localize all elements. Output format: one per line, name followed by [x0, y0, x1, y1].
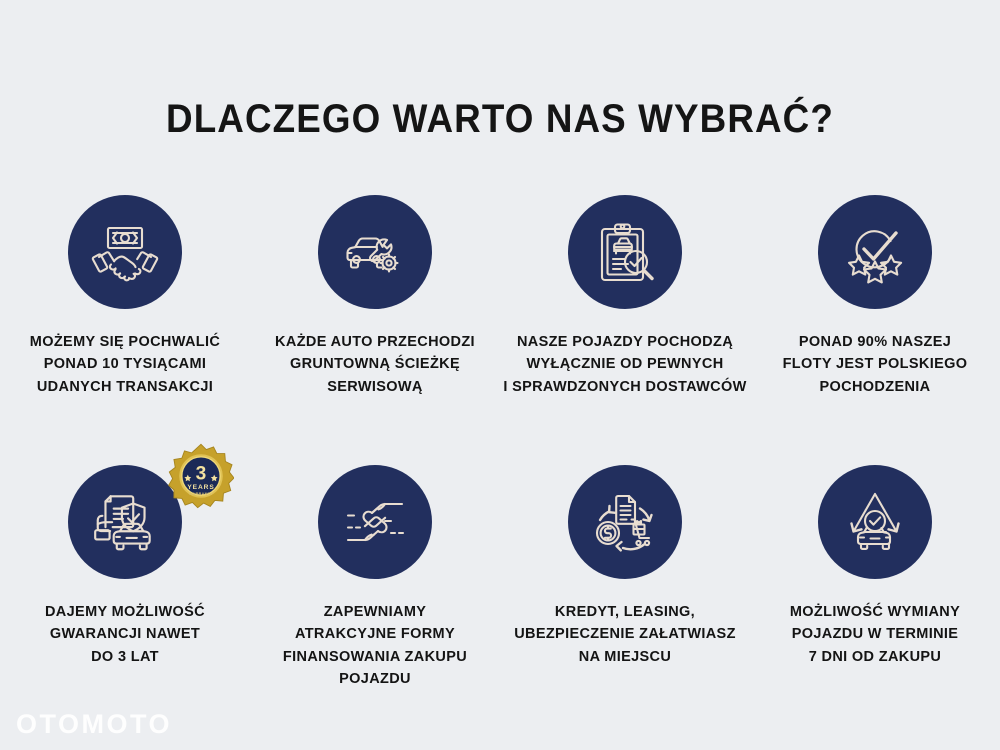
- feature-icon-wrap-8: [818, 465, 932, 579]
- caption-line: SERWISOWĄ: [252, 376, 498, 398]
- caption-line: NA MIEJSCU: [502, 646, 748, 668]
- caption-line: DO 3 LAT: [2, 646, 248, 668]
- feature-caption-5: DAJEMY MOŻLIWOŚĆ GWARANCJI NAWET DO 3 LA…: [2, 601, 248, 668]
- otomoto-watermark: OTOMOTO: [16, 709, 172, 740]
- feature-circle-1: [68, 195, 182, 309]
- feature-circle-7: [568, 465, 682, 579]
- caption-line: POCHODZENIA: [752, 376, 998, 398]
- feature-item-7: KREDYT, LEASING, UBEZPIECZENIE ZAŁATWIAS…: [500, 465, 750, 735]
- caption-line: MOŻEMY SIĘ POCHWALIĆ: [2, 331, 248, 353]
- feature-item-3: NASZE POJAZDY POCHODZĄ WYŁĄCZNIE OD PEWN…: [500, 195, 750, 465]
- caption-line: PONAD 90% NASZEJ: [752, 331, 998, 353]
- page-title: DLACZEGO WARTO NAS WYBRAĆ?: [40, 97, 960, 142]
- car-exchange-return-icon: [839, 486, 911, 558]
- feature-item-4: PONAD 90% NASZEJ FLOTY JEST POLSKIEGO PO…: [750, 195, 1000, 465]
- feature-icon-wrap-1: [68, 195, 182, 309]
- feature-icon-wrap-4: [818, 195, 932, 309]
- warranty-document-car-icon: [88, 485, 162, 559]
- feature-caption-7: KREDYT, LEASING, UBEZPIECZENIE ZAŁATWIAS…: [502, 601, 748, 668]
- caption-line: I SPRAWDZONYCH DOSTAWCÓW: [502, 376, 748, 398]
- hands-money-exchange-icon: [339, 486, 411, 558]
- three-years-warranty-seal-icon: 3 YEARS WARRANTY: [168, 443, 234, 509]
- feature-item-6: ZAPEWNIAMY ATRAKCYJNE FORMY FINANSOWANIA…: [250, 465, 500, 735]
- caption-line: FLOTY JEST POLSKIEGO: [752, 353, 998, 375]
- feature-caption-4: PONAD 90% NASZEJ FLOTY JEST POLSKIEGO PO…: [752, 331, 998, 398]
- seal-number: 3: [196, 463, 207, 484]
- caption-line: KREDYT, LEASING,: [502, 601, 748, 623]
- caption-line: PONAD 10 TYSIĄCAMI: [2, 353, 248, 375]
- infographic-page: DLACZEGO WARTO NAS WYBRAĆ?: [0, 0, 1000, 750]
- feature-caption-2: KAŻDE AUTO PRZECHODZI GRUNTOWNĄ ŚCIEŻKĘ …: [252, 331, 498, 398]
- caption-line: DAJEMY MOŻLIWOŚĆ: [2, 601, 248, 623]
- feature-caption-6: ZAPEWNIAMY ATRAKCYJNE FORMY FINANSOWANIA…: [252, 601, 498, 691]
- feature-icon-wrap-5: 3 YEARS WARRANTY: [68, 465, 182, 579]
- caption-line: POJAZDU: [252, 668, 498, 690]
- feature-circle-8: [818, 465, 932, 579]
- car-service-wrench-gear-icon: [339, 216, 411, 288]
- feature-caption-3: NASZE POJAZDY POCHODZĄ WYŁĄCZNIE OD PEWN…: [502, 331, 748, 398]
- feature-item-8: MOŻLIWOŚĆ WYMIANY POJAZDU W TERMINIE 7 D…: [750, 465, 1000, 735]
- handshake-money-icon: [89, 216, 161, 288]
- financing-cycle-icon: [589, 486, 661, 558]
- check-stars-quality-icon: [839, 216, 911, 288]
- caption-line: MOŻLIWOŚĆ WYMIANY: [752, 601, 998, 623]
- caption-line: KAŻDE AUTO PRZECHODZI: [252, 331, 498, 353]
- caption-line: FINANSOWANIA ZAKUPU: [252, 646, 498, 668]
- feature-caption-1: MOŻEMY SIĘ POCHWALIĆ PONAD 10 TYSIĄCAMI …: [2, 331, 248, 398]
- feature-caption-8: MOŻLIWOŚĆ WYMIANY POJAZDU W TERMINIE 7 D…: [752, 601, 998, 668]
- caption-line: 7 DNI OD ZAKUPU: [752, 646, 998, 668]
- caption-line: UBEZPIECZENIE ZAŁATWIASZ: [502, 623, 748, 645]
- feature-icon-wrap-6: [318, 465, 432, 579]
- feature-circle-2: [318, 195, 432, 309]
- caption-line: GWARANCJI NAWET: [2, 623, 248, 645]
- feature-icon-wrap-2: [318, 195, 432, 309]
- clipboard-car-inspection-icon: [589, 216, 661, 288]
- feature-item-1: MOŻEMY SIĘ POCHWALIĆ PONAD 10 TYSIĄCAMI …: [0, 195, 250, 465]
- feature-circle-4: [818, 195, 932, 309]
- caption-line: NASZE POJAZDY POCHODZĄ: [502, 331, 748, 353]
- caption-line: ZAPEWNIAMY: [252, 601, 498, 623]
- feature-item-5: 3 YEARS WARRANTY DAJEMY MOŻLIWOŚĆ GWARAN…: [0, 465, 250, 735]
- feature-circle-3: [568, 195, 682, 309]
- caption-line: WYŁĄCZNIE OD PEWNYCH: [502, 353, 748, 375]
- caption-line: GRUNTOWNĄ ŚCIEŻKĘ: [252, 353, 498, 375]
- feature-item-2: KAŻDE AUTO PRZECHODZI GRUNTOWNĄ ŚCIEŻKĘ …: [250, 195, 500, 465]
- feature-circle-6: [318, 465, 432, 579]
- feature-icon-wrap-7: [568, 465, 682, 579]
- caption-line: UDANYCH TRANSAKCJI: [2, 376, 248, 398]
- caption-line: ATRAKCYJNE FORMY: [252, 623, 498, 645]
- caption-line: POJAZDU W TERMINIE: [752, 623, 998, 645]
- seal-sublabel: WARRANTY: [189, 492, 213, 496]
- feature-icon-wrap-3: [568, 195, 682, 309]
- feature-circle-5: [68, 465, 182, 579]
- features-grid: MOŻEMY SIĘ POCHWALIĆ PONAD 10 TYSIĄCAMI …: [0, 195, 1000, 735]
- seal-label: YEARS: [187, 484, 214, 491]
